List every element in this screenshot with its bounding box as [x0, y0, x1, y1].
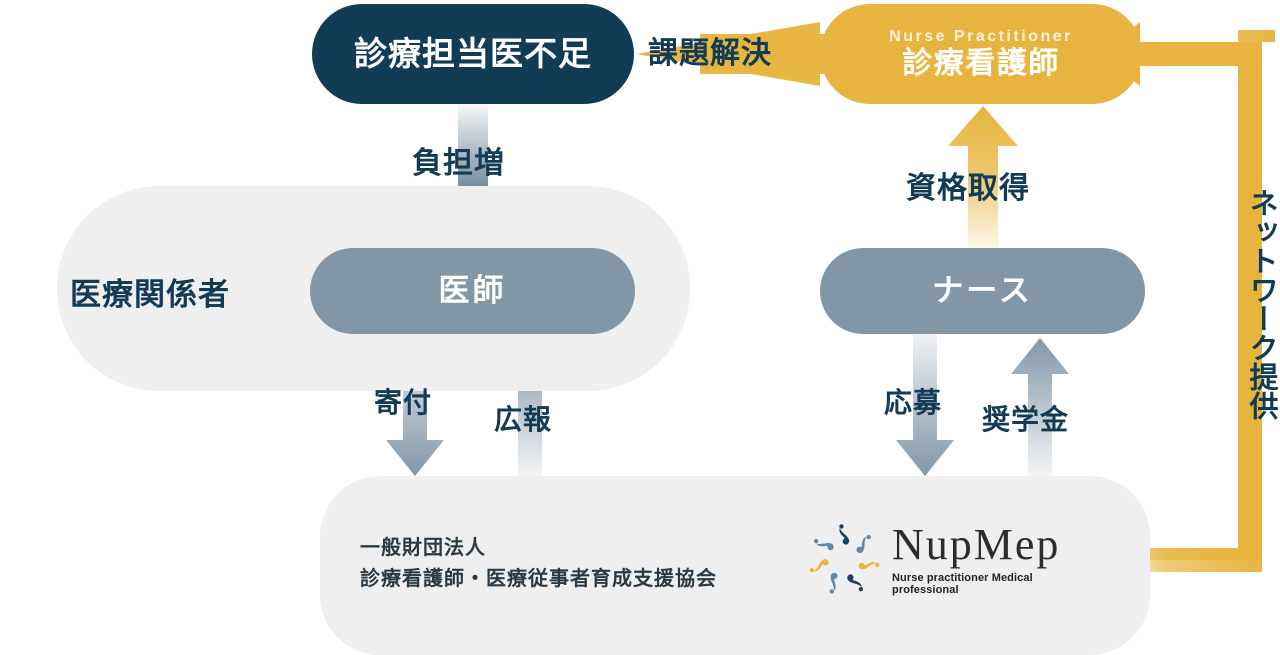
arrow-label-network: ネットワーク提供	[1239, 188, 1275, 420]
foundation-name-line2: 診療看護師・医療従事者育成支援協会	[360, 564, 717, 595]
node-doctor-label: 医師	[439, 274, 507, 308]
node-doctor[interactable]: 医師	[310, 248, 635, 334]
arrow-label-donation: 寄付	[374, 381, 432, 421]
node-physician-shortage-label: 診療担当医不足	[354, 36, 592, 72]
node-physician-shortage[interactable]: 診療担当医不足	[312, 4, 634, 104]
arrow-label-qualification: 資格取得	[906, 163, 1030, 207]
stakeholder-group-label: 医療関係者	[70, 269, 230, 314]
nupmep-logo-text: NupMep Nurse practitioner Medical profes…	[892, 523, 1102, 596]
diagram-canvas: 医療関係者 診療担当医不足 Nurse Practitioner 診療看護師 医…	[0, 0, 1280, 655]
node-nurse[interactable]: ナース	[820, 248, 1145, 334]
node-nurse-practitioner-label: 診療看護師	[902, 47, 1060, 80]
node-nurse-label: ナース	[932, 274, 1032, 308]
arrow-label-application: 応募	[884, 381, 942, 421]
foundation-name-line1: 一般財団法人	[360, 533, 717, 564]
foundation-name: 一般財団法人 診療看護師・医療従事者育成支援協会	[360, 533, 717, 595]
arrow-label-publicity: 広報	[494, 398, 552, 438]
node-nurse-practitioner[interactable]: Nurse Practitioner 診療看護師	[820, 4, 1142, 104]
nupmep-wordmark: NupMep	[892, 523, 1102, 567]
nupmep-logo-icon	[802, 518, 886, 602]
nupmep-logo: NupMep Nurse practitioner Medical profes…	[802, 517, 1102, 602]
nupmep-tagline: Nurse practitioner Medical professional	[892, 572, 1102, 596]
arrow-label-solve: 課題解決	[648, 28, 772, 72]
node-nurse-practitioner-sublabel: Nurse Practitioner	[889, 28, 1073, 46]
arrow-label-burden: 負担増	[412, 138, 505, 182]
arrow-label-scholarship: 奨学金	[982, 398, 1069, 438]
